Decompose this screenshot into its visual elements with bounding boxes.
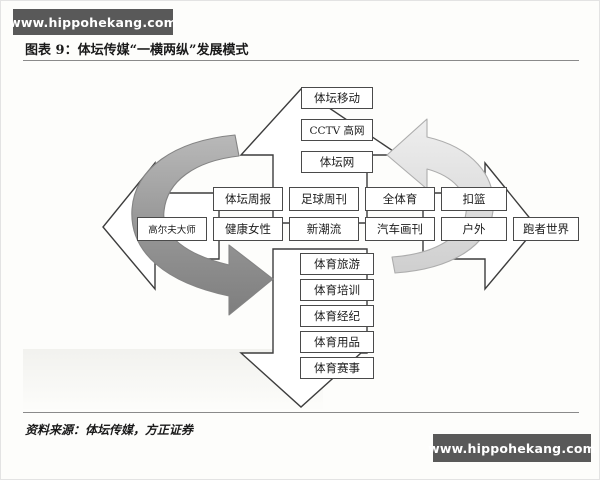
figure-page: www.hippohekang.com 图表 9：体坛传媒“一横两纵”发展模式 <box>0 0 600 480</box>
top-item-0[interactable]: 体坛移动 <box>301 87 373 109</box>
mid2-item-1[interactable]: 健康女性 <box>213 217 283 241</box>
mid2-item-2[interactable]: 新潮流 <box>289 217 359 241</box>
mid1-item-2[interactable]: 全体育 <box>365 187 435 211</box>
mid2-item-3[interactable]: 汽车画刊 <box>365 217 435 241</box>
mid1-item-1[interactable]: 足球周刊 <box>289 187 359 211</box>
top-item-2[interactable]: 体坛网 <box>301 151 373 173</box>
diagram-canvas: 体坛移动 CCTV 高网 体坛网 体坛周报 足球周刊 全体育 扣篮 高尔夫大师 … <box>23 63 579 409</box>
source-note: 资料来源：体坛传媒，方正证券 <box>25 421 193 438</box>
bottom-item-2[interactable]: 体育经纪 <box>300 305 374 327</box>
bottom-item-0[interactable]: 体育旅游 <box>300 253 374 275</box>
watermark-top: www.hippohekang.com <box>13 9 173 35</box>
source-divider <box>23 412 579 413</box>
mid1-item-0[interactable]: 体坛周报 <box>213 187 283 211</box>
bottom-item-3[interactable]: 体育用品 <box>300 331 374 353</box>
mid2-item-0[interactable]: 高尔夫大师 <box>137 217 207 241</box>
bottom-item-1[interactable]: 体育培训 <box>300 279 374 301</box>
top-item-1[interactable]: CCTV 高网 <box>301 119 373 141</box>
bottom-item-4[interactable]: 体育赛事 <box>300 357 374 379</box>
mid2-item-5[interactable]: 跑者世界 <box>513 217 579 241</box>
mid1-item-3[interactable]: 扣篮 <box>441 187 507 211</box>
watermark-bottom: www.hippohekang.com <box>433 434 591 462</box>
page-title: 图表 9：体坛传媒“一横两纵”发展模式 <box>25 39 249 58</box>
title-divider <box>23 60 579 61</box>
mid2-item-4[interactable]: 户外 <box>441 217 507 241</box>
